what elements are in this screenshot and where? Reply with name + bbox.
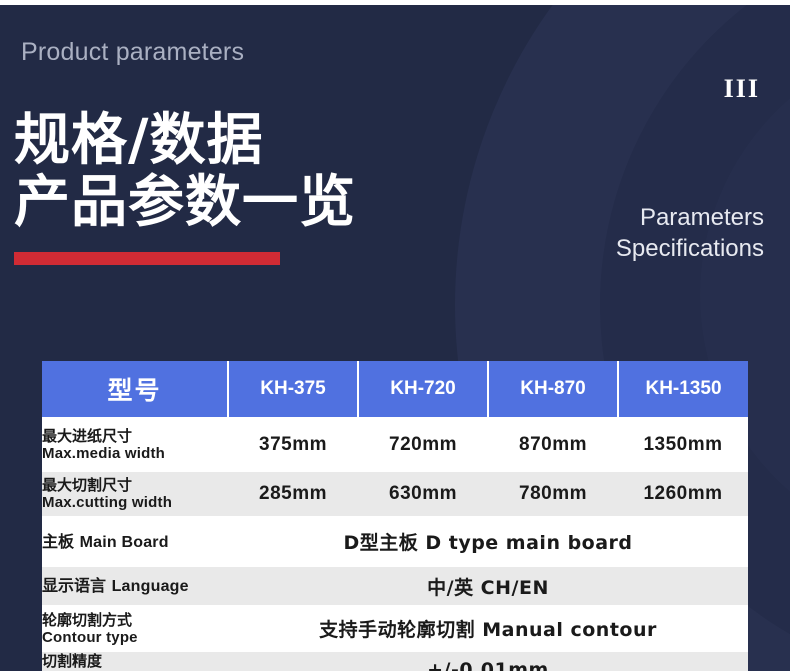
cell-value-merged: 支持手动轮廓切割 Manual contour (228, 605, 748, 652)
section-subtitle-line-2: Specifications (616, 233, 764, 264)
cell-value: 1260mm (618, 472, 748, 516)
row-label-en: Contour type (42, 629, 228, 646)
table-row: 主板 Main Board D型主板 D type main board (42, 516, 748, 567)
product-parameters-page: Product parameters III 规格/数据 产品参数一览 Para… (0, 0, 790, 671)
cell-value: 870mm (488, 417, 618, 472)
cell-value: 630mm (358, 472, 488, 516)
specifications-table: 型号 KH-375 KH-720 KH-870 KH-1350 最大进纸尺寸 M… (42, 361, 748, 671)
row-label-cn: 最大进纸尺寸 (42, 428, 228, 445)
row-label-cn: 轮廓切割方式 (42, 612, 228, 629)
table-row: 轮廓切割方式 Contour type 支持手动轮廓切割 Manual cont… (42, 605, 748, 652)
table-row: 最大切割尺寸 Max.cutting width 285mm 630mm 780… (42, 472, 748, 516)
cell-value-merged: 中/英 CH/EN (228, 567, 748, 605)
row-label-cn: 最大切割尺寸 (42, 477, 228, 494)
section-subtitle-line-1: Parameters (616, 202, 764, 233)
cell-value: 1350mm (618, 417, 748, 472)
column-header-model: 型号 (42, 361, 228, 417)
cell-value: 285mm (228, 472, 358, 516)
table-header-row: 型号 KH-375 KH-720 KH-870 KH-1350 (42, 361, 748, 417)
column-header-kh375: KH-375 (228, 361, 358, 417)
row-label-max-cutting-width: 最大切割尺寸 Max.cutting width (42, 472, 228, 516)
title-line-2-wrap: 产品参数一览 (14, 172, 484, 234)
row-label-cn: 切割精度 (42, 653, 228, 670)
cell-value-merged: +/-0.01mm (228, 652, 748, 671)
cell-value-merged: D型主板 D type main board (228, 516, 748, 567)
title-line-1: 规格/数据 (14, 110, 484, 172)
row-label-en: Language (112, 578, 189, 595)
column-header-kh1350: KH-1350 (618, 361, 748, 417)
red-underline-accent (14, 252, 280, 265)
cell-value: 720mm (358, 417, 488, 472)
table-body: 最大进纸尺寸 Max.media width 375mm 720mm 870mm… (42, 417, 748, 671)
row-label-contour-type: 轮廓切割方式 Contour type (42, 605, 228, 652)
table-row: 切割精度 Accuracy +/-0.01mm (42, 652, 748, 671)
row-label-language: 显示语言 Language (42, 567, 228, 605)
row-label-main-board: 主板 Main Board (42, 516, 228, 567)
eyebrow-text: Product parameters (21, 38, 244, 67)
title-line-2: 产品参数一览 (14, 172, 356, 234)
cell-value: 375mm (228, 417, 358, 472)
section-subtitle: Parameters Specifications (616, 202, 764, 264)
row-label-cn: 显示语言 (42, 576, 112, 595)
table-row: 显示语言 Language 中/英 CH/EN (42, 567, 748, 605)
row-label-max-media-width: 最大进纸尺寸 Max.media width (42, 417, 228, 472)
cell-value: 780mm (488, 472, 618, 516)
column-header-kh720: KH-720 (358, 361, 488, 417)
row-label-en: Max.cutting width (42, 494, 228, 511)
row-label-en: Max.media width (42, 445, 228, 462)
row-label-en: Main Board (80, 534, 169, 551)
page-title: 规格/数据 产品参数一览 (14, 110, 484, 234)
row-label-cn: 主板 (42, 532, 80, 551)
column-header-kh870: KH-870 (488, 361, 618, 417)
row-label-accuracy: 切割精度 Accuracy (42, 652, 228, 671)
section-number-marker: III (724, 74, 760, 104)
table-row: 最大进纸尺寸 Max.media width 375mm 720mm 870mm… (42, 417, 748, 472)
table-header: 型号 KH-375 KH-720 KH-870 KH-1350 (42, 361, 748, 417)
